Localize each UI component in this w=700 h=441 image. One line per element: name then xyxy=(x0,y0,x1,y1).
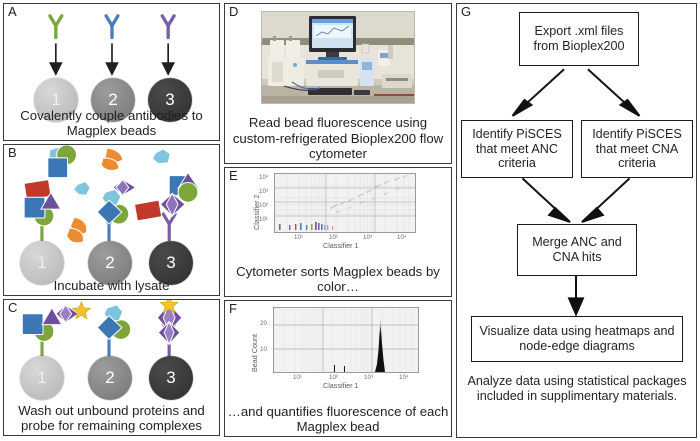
circle-shape xyxy=(178,183,198,203)
figure-workflow: A xyxy=(0,0,700,441)
flow-node-merge-label: Merge ANC and CNA hits xyxy=(521,235,633,264)
panel-e-caption: Cytometer sorts Magplex beads by color… xyxy=(225,264,451,294)
panel-f-plot-area xyxy=(273,307,419,373)
bead-3-label: 3 xyxy=(166,253,175,273)
panel-a-caption: Covalently couple antibodies to Magplex … xyxy=(4,108,219,138)
antibody-purple-icon xyxy=(163,324,175,358)
flow-node-anc[interactable]: Identify PiSCES that meet ANC criteria xyxy=(461,120,573,178)
panel-a: A xyxy=(3,3,220,141)
panel-e-plot: Classifier 2 10⁴ 10³ 10² 10¹ xyxy=(247,172,437,250)
diamond-shape xyxy=(113,180,136,196)
bead-2-label: 2 xyxy=(105,368,114,388)
bead-1-label: 1 xyxy=(37,253,46,273)
flow-node-merge[interactable]: Merge ANC and CNA hits xyxy=(517,224,637,276)
panel-e-xtick-3: 10³ xyxy=(363,234,372,241)
panel-d: D xyxy=(224,3,452,164)
diamond-shape xyxy=(60,305,72,323)
panel-e: E Classifier 2 10⁴ 10³ 10² 10¹ xyxy=(224,167,452,297)
hexagon-shape xyxy=(152,149,170,164)
diamond-shape xyxy=(97,316,122,340)
diamond-shape xyxy=(160,193,185,216)
coupling-arrows-icon xyxy=(50,43,173,74)
panel-e-ytick-1: 10¹ xyxy=(259,216,268,223)
flow-footnote: Analyze data using statistical packages … xyxy=(461,374,693,404)
panel-f-xtick-3: 10³ xyxy=(364,374,373,381)
panel-e-ytick-4: 10⁴ xyxy=(259,174,269,181)
panel-c: C xyxy=(3,299,220,436)
triangle-shape xyxy=(178,173,199,189)
diamond-shape xyxy=(166,193,178,216)
antibody-blue-icon xyxy=(103,328,115,358)
flow-node-export[interactable]: Export .xml files from Bioplex200 xyxy=(519,12,639,66)
panel-d-letter: D xyxy=(229,5,238,18)
panel-f-histogram-svg xyxy=(274,308,418,372)
circle-shape xyxy=(111,320,131,340)
flow-node-visualize-label: Visualize data using heatmaps and node-e… xyxy=(475,324,679,353)
blob-shape xyxy=(105,148,123,162)
panel-b-letter: B xyxy=(8,146,17,159)
detection-star-icon xyxy=(73,300,178,319)
panel-f-xlabel: Classifier 1 xyxy=(323,382,359,390)
panel-e-xtick-1: 10¹ xyxy=(294,234,303,241)
diamond-shape xyxy=(157,304,182,332)
blob-shape xyxy=(67,228,84,243)
panel-f: F Bead Count 20 10 xyxy=(224,300,452,437)
flow-node-cna-label: Identify PiSCES that meet CNA criteria xyxy=(585,127,689,171)
panel-e-scatter-svg xyxy=(275,174,415,232)
square-shape xyxy=(24,197,45,218)
diamond-shape xyxy=(158,322,180,345)
panel-e-xtick-4: 10⁴ xyxy=(397,234,407,241)
panel-f-letter: F xyxy=(229,302,237,315)
panel-b-caption: Incubate with lysate xyxy=(4,278,219,293)
panel-e-plot-area xyxy=(274,173,416,233)
antibody-purple-icon xyxy=(163,214,175,240)
flow-node-cna[interactable]: Identify PiSCES that meet CNA criteria xyxy=(581,120,693,178)
flow-node-export-label: Export .xml files from Bioplex200 xyxy=(523,24,635,53)
column-middle: D xyxy=(222,0,454,441)
bead-2: 2 xyxy=(88,356,132,400)
panel-f-ylabel: Bead Count xyxy=(251,334,259,372)
antibody-green-icon xyxy=(36,214,48,240)
panel-e-ylabel: Classifier 2 xyxy=(253,194,261,230)
column-left: A xyxy=(0,0,222,441)
triangle-shape xyxy=(41,192,61,209)
panel-d-caption: Read bead fluorescence using custom-refr… xyxy=(225,115,451,161)
circle-shape xyxy=(57,145,77,165)
antibody-blue-icon xyxy=(106,16,118,38)
bead-3-label: 3 xyxy=(166,368,175,388)
bead-1-label: 1 xyxy=(37,368,46,388)
panel-f-xtick-4: 10⁴ xyxy=(399,374,409,381)
panel-f-ytick-20: 20 xyxy=(260,320,267,327)
panel-f-xtick-2: 10² xyxy=(329,374,338,381)
antibody-green-icon xyxy=(36,328,48,358)
blob-shape xyxy=(101,158,119,171)
panel-c-caption: Wash out unbound proteins and probe for … xyxy=(4,403,219,433)
square-shape xyxy=(22,314,43,335)
panel-e-ytick-3: 10³ xyxy=(259,188,268,195)
rectangle-shape xyxy=(24,180,51,200)
panel-f-xtick-1: 10¹ xyxy=(293,374,302,381)
bioplex200-photo-graphic xyxy=(262,12,414,103)
panel-f-caption: …and quantifies fluorescence of each Mag… xyxy=(225,404,451,434)
flow-node-visualize[interactable]: Visualize data using heatmaps and node-e… xyxy=(471,316,683,362)
panel-f-plot: Bead Count 20 10 xyxy=(247,306,437,388)
circle-shape xyxy=(34,322,54,342)
diamond-shape xyxy=(116,180,129,196)
bead-3: 3 xyxy=(149,356,193,400)
panel-g-letter: G xyxy=(461,5,471,18)
panel-e-ytick-2: 10² xyxy=(259,202,268,209)
hexagon-shape xyxy=(74,182,91,196)
rectangle-shape xyxy=(134,200,161,221)
antibody-green-icon xyxy=(50,16,62,38)
circle-shape xyxy=(109,204,129,224)
bead-1: 1 xyxy=(20,356,64,400)
column-right: G Export .xml files from Bioplex200 Iden… xyxy=(454,0,700,441)
hexagon-shape xyxy=(104,305,123,321)
panel-f-ytick-10: 10 xyxy=(260,346,267,353)
square-shape xyxy=(48,158,68,178)
triangle-shape xyxy=(42,308,62,325)
diamond-shape xyxy=(97,200,122,224)
square-shape xyxy=(169,176,189,196)
bead-2-label: 2 xyxy=(105,253,114,273)
flow-node-anc-label: Identify PiSCES that meet ANC criteria xyxy=(465,127,569,171)
panel-e-xtick-2: 10² xyxy=(329,234,338,241)
diamond-shape xyxy=(164,322,174,345)
antibody-purple-icon xyxy=(162,16,174,38)
panel-a-letter: A xyxy=(8,5,17,18)
circle-shape xyxy=(34,206,54,226)
diamond-shape xyxy=(163,304,175,332)
panel-g: G Export .xml files from Bioplex200 Iden… xyxy=(456,3,697,438)
panel-e-xlabel: Classifier 1 xyxy=(323,242,359,250)
panel-g-arrows xyxy=(457,4,696,437)
hexagon-shape xyxy=(49,147,65,164)
blob-shape xyxy=(71,217,87,234)
panel-e-letter: E xyxy=(229,169,238,182)
diamond-shape xyxy=(56,305,79,323)
antibody-blue-icon xyxy=(103,214,115,240)
panel-b: B xyxy=(3,144,220,296)
bioplex200-photo xyxy=(261,11,415,104)
hexagon-shape xyxy=(102,189,121,205)
panel-c-letter: C xyxy=(8,301,17,314)
